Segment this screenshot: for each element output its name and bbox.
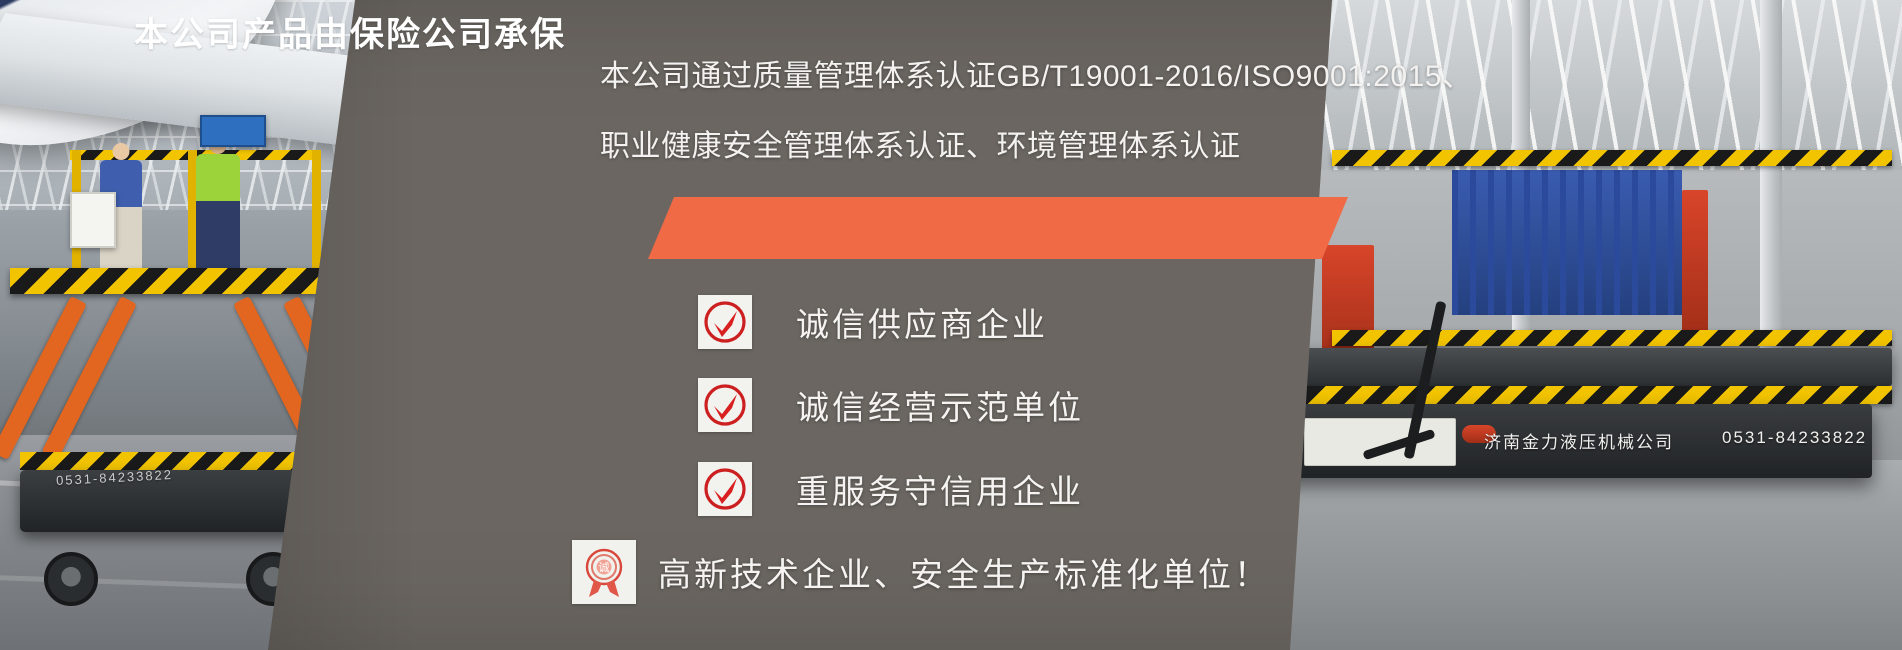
certification-line-1: 本公司通过质量管理体系认证GB/T19001-2016/ISO9001:2015… xyxy=(600,62,1472,92)
medal-ribbon-icon: 诚 xyxy=(572,540,636,604)
check-circle-icon xyxy=(698,295,752,349)
honor-label-1: 诚信供应商企业 xyxy=(796,298,1048,346)
footer-honor-item: 诚 高新技术企业、安全生产标准化单位！ xyxy=(572,540,1270,604)
honor-label-2: 诚信经营示范单位 xyxy=(796,381,1084,429)
check-circle-icon xyxy=(698,462,752,516)
honor-label-3: 重服务守信用企业 xyxy=(796,465,1084,513)
check-circle-icon xyxy=(698,378,752,432)
certification-line-2: 职业健康安全管理体系认证、环境管理体系认证 xyxy=(600,132,1241,162)
insurance-label: 本公司产品由保险公司承保 xyxy=(0,0,700,62)
footer-honor-label: 高新技术企业、安全生产标准化单位！ xyxy=(658,548,1270,596)
insurance-highlight-banner xyxy=(648,197,1348,259)
honor-item-2: 诚信经营示范单位 xyxy=(698,378,1084,432)
promo-banner: 0531-84233822 济南金力液压机械公司 0531-84233822 本… xyxy=(0,0,1902,650)
banner-content: 本公司通过质量管理体系认证GB/T19001-2016/ISO9001:2015… xyxy=(0,0,1902,650)
medal-badge-text: 诚 xyxy=(599,561,610,574)
honor-item-1: 诚信供应商企业 xyxy=(698,295,1048,349)
honor-item-3: 重服务守信用企业 xyxy=(698,462,1084,516)
